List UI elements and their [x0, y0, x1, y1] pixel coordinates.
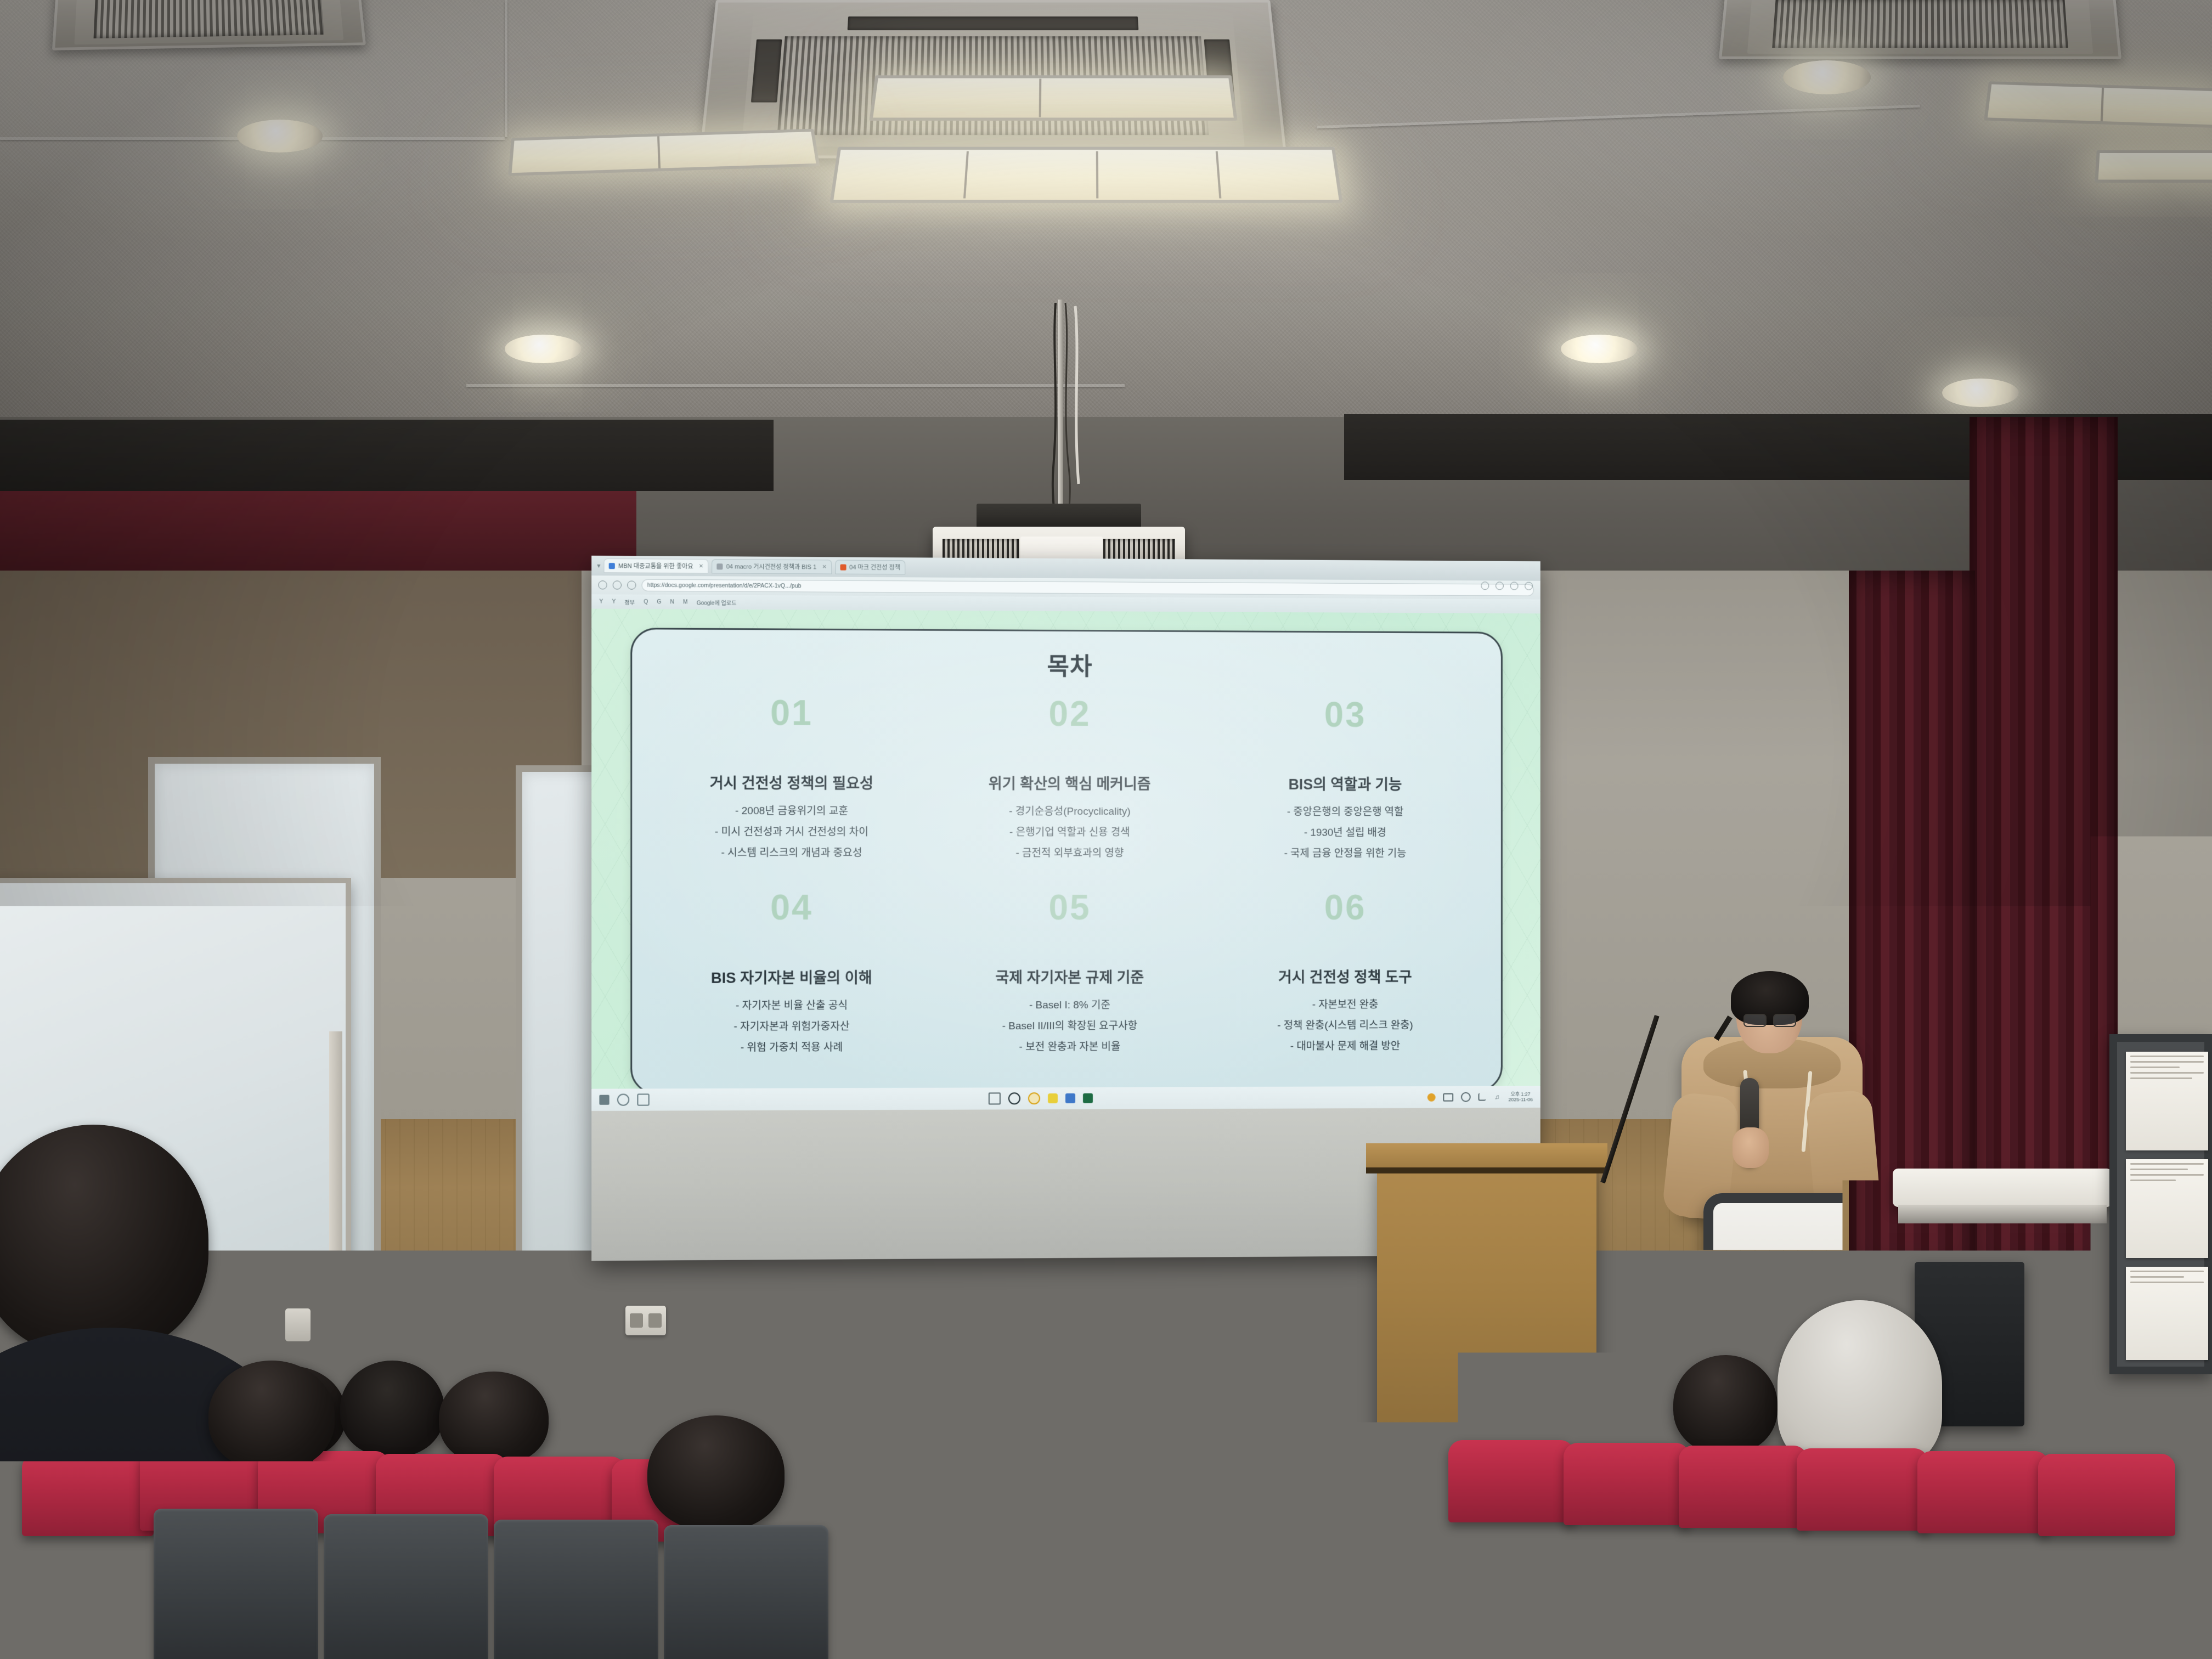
tab-title: 04 macro 거시건전성 정책과 BIS 1	[726, 562, 817, 571]
ceiling-tile-seam	[466, 384, 1125, 387]
notification-icon[interactable]	[1427, 1093, 1435, 1101]
toc-bullet: 1930년 설립 배경	[1304, 825, 1386, 839]
toc-heading: 거시 건전성 정책 도구	[1278, 965, 1412, 986]
windows-taskbar[interactable]: ♫ 오후 1:27 2025-11-06	[591, 1086, 1541, 1111]
tab-title: 04 마크 건전성 정책	[849, 563, 900, 572]
notice-paper	[2126, 1052, 2208, 1150]
seat-back-panel	[1542, 1522, 1706, 1659]
kakaotalk-icon[interactable]	[1048, 1093, 1058, 1103]
tab-favicon	[609, 563, 615, 569]
toc-number: 03	[1324, 697, 1366, 732]
browser-tab-0[interactable]: MBN 대중교통을 위한 좋아요 ✕	[604, 558, 709, 573]
ime-icon[interactable]: ♫	[1493, 1093, 1501, 1101]
recessed-downlight	[505, 335, 582, 363]
toc-bullet-list: 중앙은행의 중앙은행 역할 1930년 설립 배경 국제 금융 안정을 위한 기…	[1284, 804, 1407, 860]
ac-cassette-unit	[52, 0, 366, 50]
task-view-icon[interactable]	[637, 1093, 649, 1105]
toc-heading: BIS의 역할과 기능	[1289, 772, 1402, 794]
bookmark-item[interactable]: G	[657, 599, 661, 605]
stage-valance	[0, 491, 636, 582]
taskbar-left-group[interactable]	[599, 1093, 649, 1105]
address-bar-url: https://docs.google.com/presentation/d/e…	[647, 582, 802, 590]
toc-number: 01	[770, 695, 813, 731]
recessed-downlight	[1561, 335, 1638, 363]
taskbar-clock[interactable]: 오후 1:27 2025-11-06	[1508, 1091, 1533, 1103]
toc-number: 02	[1048, 696, 1091, 731]
side-table	[1893, 1169, 2112, 1207]
toc-grid: 01 거시 건전성 정책의 필요성 2008년 금융위기의 교훈 미시 건전성과…	[654, 695, 1480, 1085]
toc-item-03: 03 BIS의 역할과 기능 중앙은행의 중앙은행 역할 1930년 설립 배경…	[1211, 697, 1480, 890]
browser-window: ▾ MBN 대중교통을 위한 좋아요 ✕ 04 macro 거시건전성 정책과 …	[591, 556, 1541, 1111]
seat-back-panel	[154, 1509, 318, 1659]
ceiling-light-troffer	[1984, 81, 2212, 128]
toc-bullet: 미시 건전성과 거시 건전성의 차이	[715, 823, 868, 838]
toc-heading: 국제 자기자본 규제 기준	[995, 966, 1144, 987]
bookmark-item[interactable]: Q	[644, 599, 648, 605]
slide-card: 목차 01 거시 건전성 정책의 필요성 2008년 금융위기의 교훈 미시 건…	[630, 628, 1503, 1088]
battery-icon[interactable]	[1443, 1093, 1453, 1101]
auditorium-seat	[1917, 1451, 2049, 1533]
profile-icon[interactable]	[1510, 582, 1519, 590]
ac-cassette-unit	[1719, 0, 2121, 59]
browser-tab-2[interactable]: 04 마크 건전성 정책	[835, 560, 905, 574]
tab-list-chevron-icon[interactable]: ▾	[597, 562, 600, 569]
toc-bullet: 보전 완충과 자본 비율	[1019, 1039, 1121, 1053]
toc-heading: 거시 건전성 정책의 필요성	[710, 771, 873, 793]
taskbar-tray-group[interactable]: ♫ 오후 1:27 2025-11-06	[1427, 1091, 1533, 1103]
tab-close-icon[interactable]: ✕	[822, 564, 826, 570]
notice-paper	[2126, 1159, 2208, 1258]
ceiling-light-troffer	[830, 147, 1342, 203]
search-icon[interactable]	[617, 1094, 629, 1106]
bookmark-star-icon[interactable]	[1496, 582, 1504, 590]
wall-valance-beam	[0, 420, 774, 491]
toc-bullet: 은행기업 역할과 신용 경색	[1009, 824, 1130, 839]
browser-toolbar-right[interactable]	[1481, 582, 1533, 590]
toc-number: 05	[1048, 890, 1091, 925]
seat-back-panel	[0, 1503, 148, 1659]
toc-bullet: 2008년 금융위기의 교훈	[735, 803, 848, 817]
wall-power-outlet	[625, 1306, 666, 1335]
toc-item-05: 05 국제 자기자본 규제 기준 Basel I: 8% 기준 Basel II…	[934, 890, 1205, 1084]
foreground-audience-head	[647, 1415, 785, 1531]
seat-back-panel	[1712, 1525, 1876, 1659]
presentation-slide: 목차 01 거시 건전성 정책의 필요성 2008년 금융위기의 교훈 미시 건…	[591, 609, 1541, 1089]
tab-title: MBN 대중교통을 위한 좋아요	[618, 561, 693, 571]
toc-bullet: 자기자본 비율 산출 공식	[736, 997, 848, 1012]
file-explorer-icon[interactable]	[989, 1092, 1001, 1104]
toc-item-02: 02 위기 확산의 핵심 메커니즘 경기순응성(Procyclicality) …	[934, 696, 1205, 890]
toc-item-04: 04 BIS 자기자본 비율의 이해 자기자본 비율 산출 공식 자기자본과 위…	[654, 890, 928, 1085]
presenter-hand	[1733, 1127, 1769, 1168]
toc-bullet: 경기순응성(Procyclicality)	[1009, 803, 1130, 818]
seat-back-panel	[494, 1520, 658, 1659]
toc-bullet: Basel I: 8% 기준	[1029, 997, 1110, 1012]
hancom-icon[interactable]	[1065, 1093, 1075, 1103]
stage-curtain	[1970, 417, 2118, 1273]
chrome-icon[interactable]	[1028, 1092, 1040, 1104]
auditorium-seat	[1797, 1448, 1928, 1531]
seat-back-panel	[324, 1514, 488, 1659]
notice-board	[2109, 1034, 2212, 1374]
toc-bullet: 시스템 리스크의 개념과 중요성	[721, 844, 862, 859]
toc-bullet-list: 경기순응성(Procyclicality) 은행기업 역할과 신용 경색 금전적…	[1009, 803, 1130, 860]
taskbar-time: 오후 1:27	[1508, 1091, 1533, 1097]
excel-icon[interactable]	[1083, 1093, 1093, 1103]
seat-back-panel	[1882, 1528, 2046, 1659]
toc-bullet-list: 자기자본 비율 산출 공식 자기자본과 위험가중자산 위험 가중치 적용 사례	[733, 997, 849, 1054]
audience-head	[1580, 1339, 1679, 1432]
seat-back-panel	[664, 1525, 828, 1659]
toc-number: 06	[1324, 890, 1366, 925]
toc-heading: 위기 확산의 핵심 메커니즘	[989, 772, 1151, 794]
edge-icon[interactable]	[1008, 1092, 1020, 1104]
extensions-icon[interactable]	[1481, 582, 1489, 590]
toc-bullet-list: 자본보전 완충 정책 완충(시스템 리스크 완충) 대마불사 문제 해결 방안	[1277, 996, 1413, 1053]
toc-bullet: 금전적 외부효과의 영향	[1015, 845, 1124, 860]
audience-head-hooded	[1778, 1300, 1942, 1470]
toc-bullet: Basel II/III의 확장된 요구사항	[1002, 1018, 1137, 1032]
auditorium-seat	[2038, 1454, 2175, 1536]
toc-number: 04	[770, 890, 813, 925]
seat-back-panel	[1372, 1520, 1536, 1659]
bookmark-item[interactable]: N	[670, 599, 674, 605]
audience-head	[1673, 1355, 1778, 1454]
projector-bracket	[977, 504, 1141, 529]
projector-cables	[1037, 303, 1103, 522]
notice-paper	[2126, 1267, 2208, 1360]
wall-floor-box	[285, 1308, 311, 1341]
toc-item-06: 06 거시 건전성 정책 도구 자본보전 완충 정책 완충(시스템 리스크 완충…	[1211, 890, 1480, 1083]
ceiling-tile-seam	[505, 0, 507, 137]
taskbar-pinned-group[interactable]	[989, 1092, 1093, 1105]
wifi-icon[interactable]	[1461, 1092, 1471, 1102]
eyeglasses-icon	[1743, 1014, 1796, 1025]
podium	[1377, 1163, 1596, 1459]
menu-icon[interactable]	[1525, 582, 1533, 590]
volume-icon[interactable]	[1478, 1093, 1486, 1101]
tab-favicon	[717, 563, 723, 569]
toc-bullet: 위험 가중치 적용 사례	[741, 1039, 843, 1054]
toc-bullet: 정책 완충(시스템 리스크 완충)	[1277, 1017, 1413, 1032]
ceiling-light-troffer	[2095, 150, 2212, 183]
bookmark-item[interactable]: M	[683, 599, 687, 605]
recessed-downlight	[237, 120, 323, 153]
auditorium-seat	[1679, 1446, 1808, 1528]
toc-item-01: 01 거시 건전성 정책의 필요성 2008년 금융위기의 교훈 미시 건전성과…	[654, 695, 928, 890]
bookmark-item[interactable]: Y	[612, 599, 616, 605]
lecture-hall-photo: ▾ MBN 대중교통을 위한 좋아요 ✕ 04 macro 거시건전성 정책과 …	[0, 0, 2212, 1659]
bookmark-item[interactable]: Google에 업로드	[697, 598, 737, 606]
recessed-downlight	[1783, 60, 1871, 94]
toc-heading: BIS 자기자본 비율의 이해	[711, 966, 872, 988]
audience-head	[340, 1361, 444, 1457]
bookmark-item[interactable]: 정부	[624, 597, 635, 606]
address-bar[interactable]: https://docs.google.com/presentation/d/e…	[642, 579, 1534, 596]
toc-bullet: 국제 금융 안정을 위한 기능	[1284, 845, 1407, 860]
tab-close-icon[interactable]: ✕	[699, 563, 703, 569]
toc-bullet: 중앙은행의 중앙은행 역할	[1287, 804, 1403, 819]
auditorium-seat	[1448, 1440, 1575, 1522]
recessed-downlight	[1942, 379, 2019, 407]
seat-back-panel	[2052, 1531, 2212, 1659]
audience-head	[439, 1372, 549, 1465]
forward-arrow-icon[interactable]	[613, 580, 622, 589]
auditorium-seat	[1333, 1437, 1459, 1520]
toc-bullet-list: Basel I: 8% 기준 Basel II/III의 확장된 요구사항 보전…	[1002, 997, 1137, 1053]
toc-bullet: 대마불사 문제 해결 방안	[1290, 1038, 1400, 1053]
back-arrow-icon[interactable]	[598, 580, 607, 589]
toc-bullet-list: 2008년 금융위기의 교훈 미시 건전성과 거시 건전성의 차이 시스템 리스…	[715, 803, 868, 860]
reload-icon[interactable]	[627, 581, 636, 590]
taskbar-date: 2025-11-06	[1508, 1097, 1533, 1102]
ceiling-light-troffer	[869, 75, 1237, 121]
browser-tab-1[interactable]: 04 macro 거시건전성 정책과 BIS 1 ✕	[712, 559, 831, 574]
foreground-audience-head	[208, 1361, 335, 1470]
toc-bullet: 자본보전 완충	[1312, 996, 1379, 1011]
auditorium-seat	[1564, 1443, 1690, 1525]
slide-title: 목차	[632, 645, 1501, 684]
tab-favicon	[840, 564, 846, 570]
toc-bullet: 자기자본과 위험가중자산	[733, 1018, 849, 1034]
windows-start-icon[interactable]	[599, 1095, 609, 1105]
bookmark-item[interactable]: Y	[599, 599, 603, 605]
side-table-edge	[1898, 1205, 2107, 1223]
